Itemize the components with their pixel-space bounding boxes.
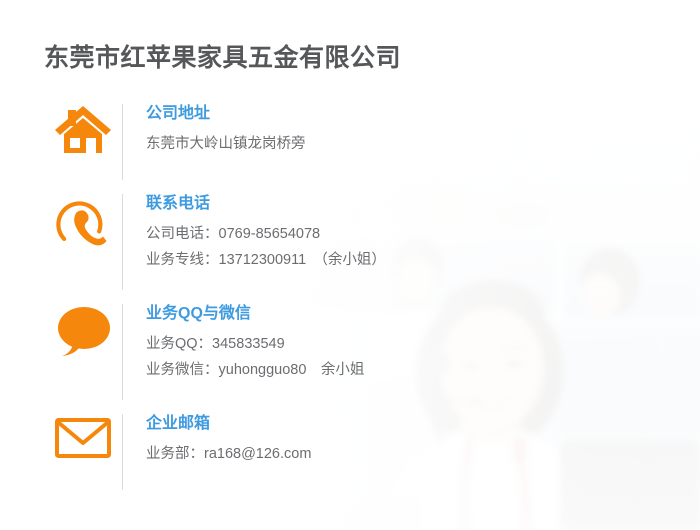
contact-line-address-1: 东莞市大岭山镇龙岗桥旁 bbox=[146, 131, 700, 157]
contact-text-im: 业务QQ与微信 业务QQ：345833549 业务微信：yuhongguo80 … bbox=[123, 300, 700, 383]
contact-content: 东莞市红苹果家具五金有限公司 公司地址 东莞市 bbox=[0, 0, 700, 530]
contact-line-qq: 业务QQ：345833549 bbox=[146, 331, 700, 357]
contact-text-address: 公司地址 东莞市大岭山镇龙岗桥旁 bbox=[123, 100, 700, 157]
contact-item-email: 企业邮箱 业务部：ra168@126.com bbox=[0, 410, 700, 500]
contact-line-email: 业务部：ra168@126.com bbox=[146, 441, 700, 467]
contact-line-company-phone: 公司电话：0769-85654078 bbox=[146, 221, 700, 247]
contact-list: 公司地址 东莞市大岭山镇龙岗桥旁 联系电话 bbox=[0, 100, 700, 500]
company-title: 东莞市红苹果家具五金有限公司 bbox=[44, 38, 401, 74]
contact-heading-phone: 联系电话 bbox=[146, 192, 700, 216]
contact-item-im: 业务QQ与微信 业务QQ：345833549 业务微信：yuhongguo80 … bbox=[0, 300, 700, 410]
envelope-icon bbox=[44, 410, 122, 460]
speech-bubble-icon bbox=[44, 300, 122, 358]
contact-item-phone: 联系电话 公司电话：0769-85654078 业务专线：13712300911… bbox=[0, 190, 700, 300]
contact-heading-im: 业务QQ与微信 bbox=[146, 302, 700, 326]
contact-heading-address: 公司地址 bbox=[146, 102, 700, 126]
contact-text-phone: 联系电话 公司电话：0769-85654078 业务专线：13712300911… bbox=[123, 190, 700, 273]
contact-text-email: 企业邮箱 业务部：ra168@126.com bbox=[123, 410, 700, 467]
phone-icon bbox=[44, 190, 122, 252]
home-icon bbox=[44, 100, 122, 156]
contact-panel: 东莞市红苹果家具五金有限公司 公司地址 东莞市 bbox=[0, 0, 700, 530]
contact-line-wechat: 业务微信：yuhongguo80 余小姐 bbox=[146, 357, 700, 383]
contact-heading-email: 企业邮箱 bbox=[146, 412, 700, 436]
contact-item-address: 公司地址 东莞市大岭山镇龙岗桥旁 bbox=[0, 100, 700, 190]
contact-line-sales-hotline: 业务专线：13712300911 （余小姐） bbox=[146, 247, 700, 273]
